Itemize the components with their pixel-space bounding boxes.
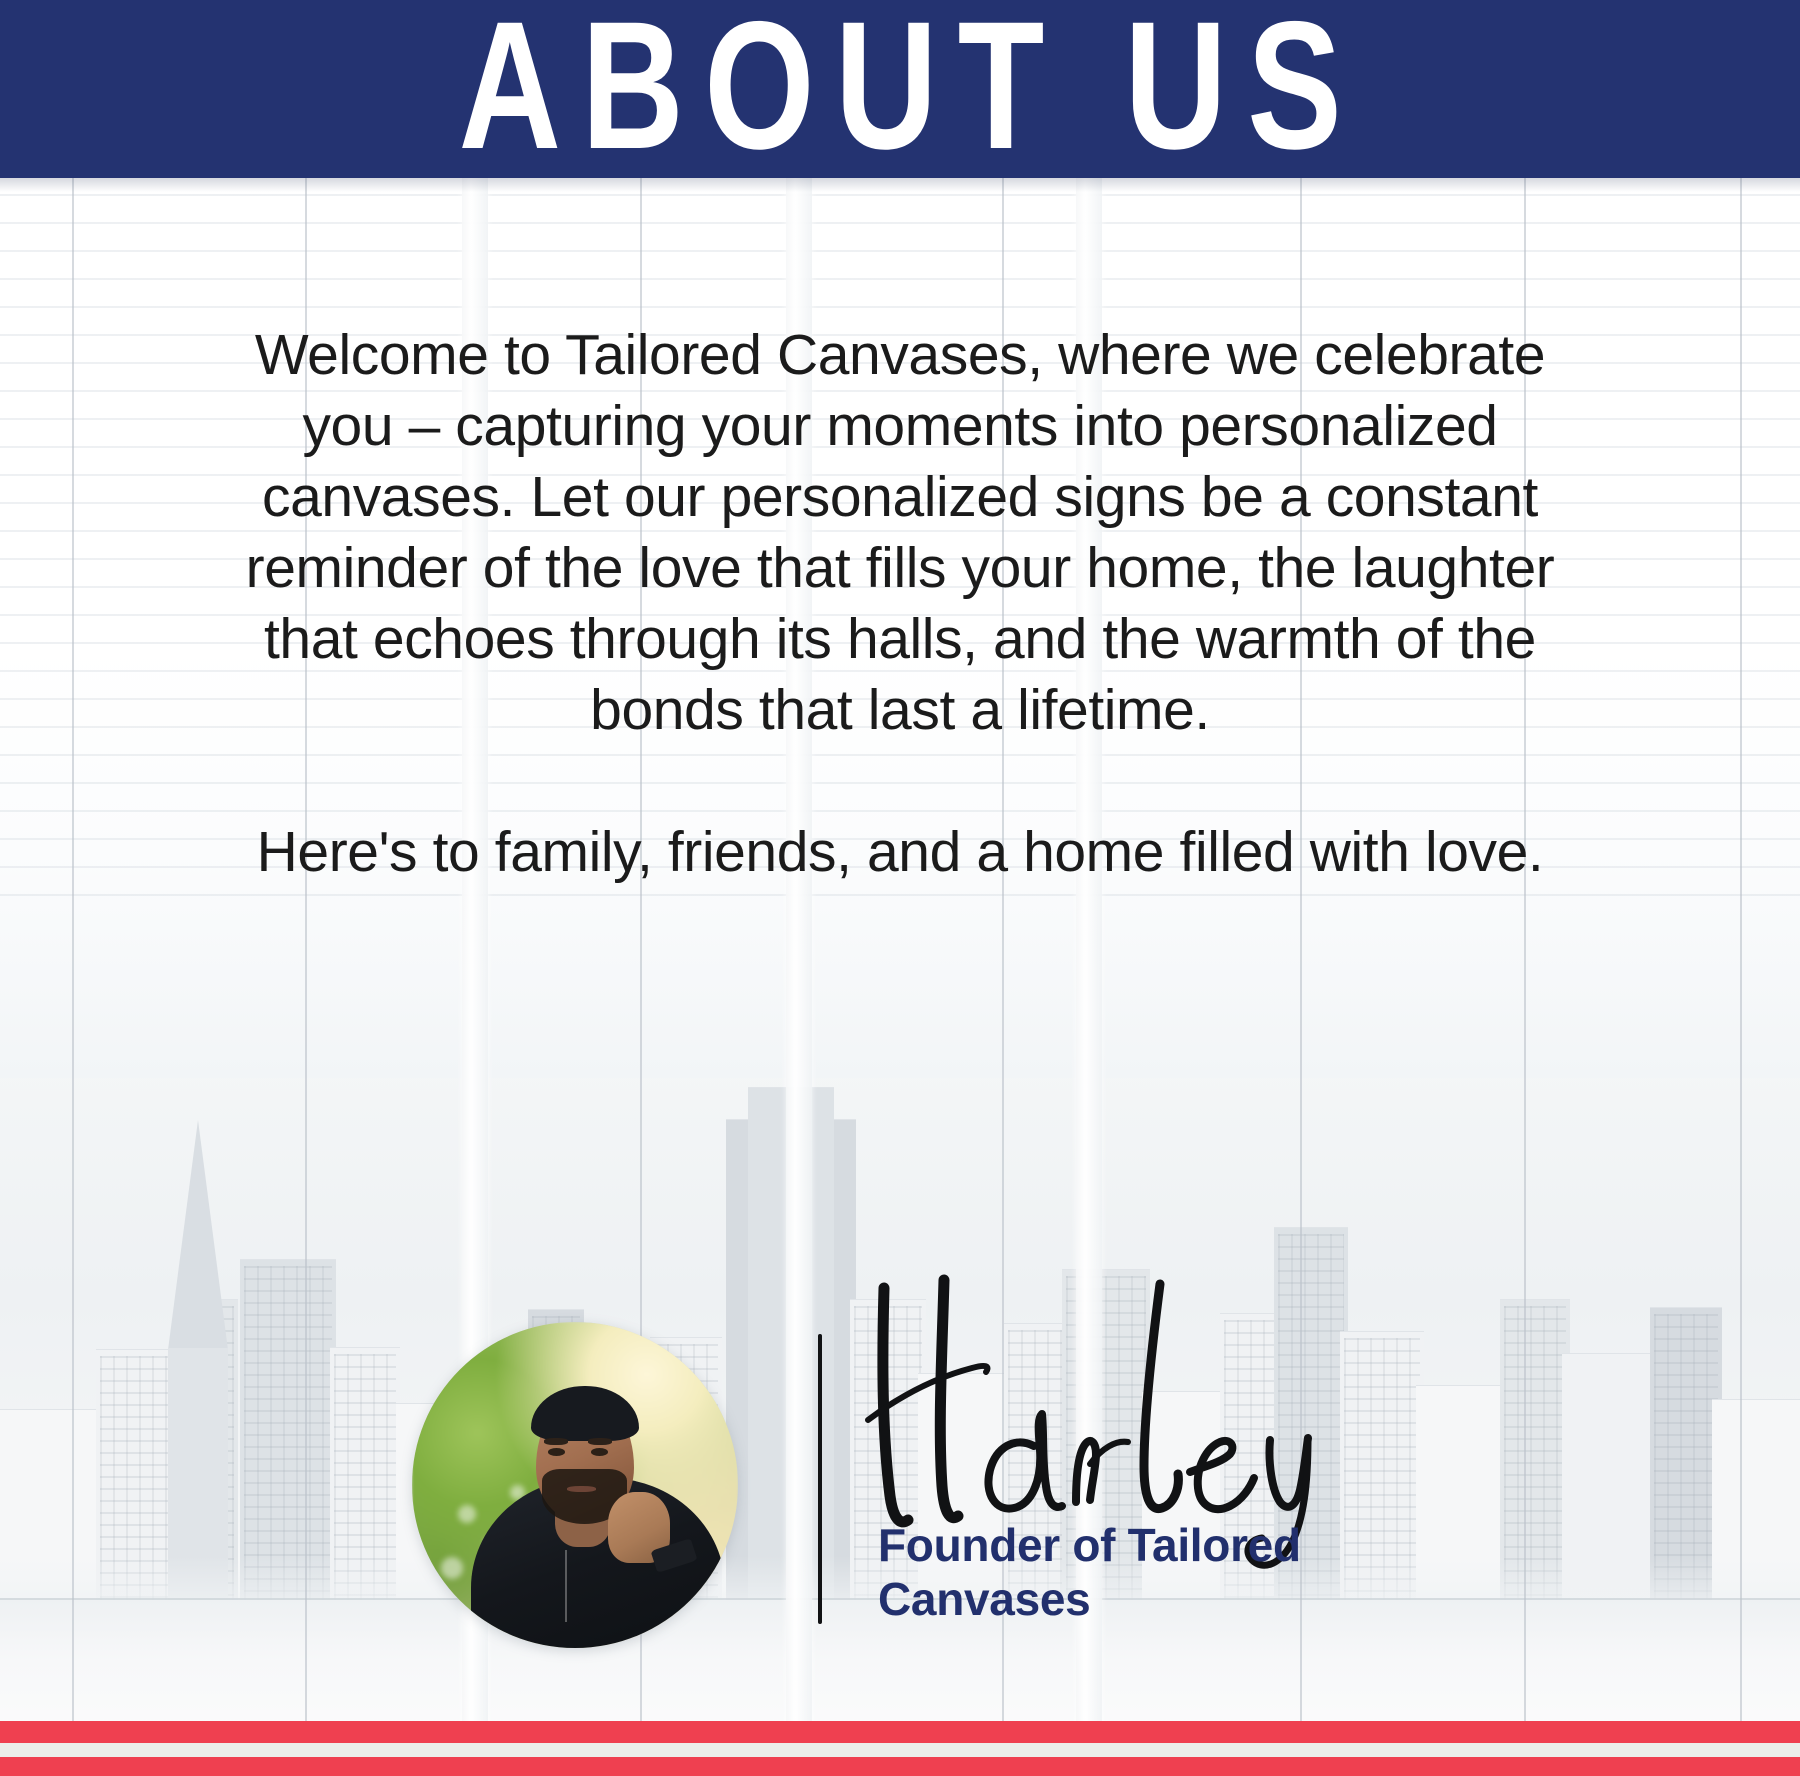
founder-avatar	[412, 1322, 738, 1648]
about-copy: Welcome to Tailored Canvases, where we c…	[210, 320, 1590, 888]
page-title: ABOUT US	[438, 0, 1362, 176]
footer-stripe-bottom	[0, 1757, 1800, 1776]
window-mullion	[1740, 178, 1742, 1776]
portrait-eyebrow-right	[588, 1438, 612, 1445]
about-us-page: ABOUT US Welcome to Tailored Canvases, w…	[0, 0, 1800, 1776]
portrait-eyebrow-left	[544, 1438, 568, 1445]
portrait-mouth	[567, 1486, 596, 1491]
window-mullion	[72, 178, 74, 1776]
signature-divider	[818, 1334, 822, 1624]
bokeh-dot	[458, 1505, 476, 1523]
paragraph-spacer	[210, 746, 1590, 817]
bokeh-dot	[441, 1557, 463, 1579]
page-header: ABOUT US	[0, 0, 1800, 178]
founder-role: Founder of Tailored Canvases	[878, 1518, 1478, 1626]
signature-icon	[838, 1250, 1398, 1550]
portrait-necklace	[565, 1550, 567, 1622]
footer-stripe-top	[0, 1721, 1800, 1743]
founder-role-line-2: Canvases	[878, 1572, 1478, 1626]
about-paragraph-2: Here's to family, friends, and a home fi…	[210, 817, 1590, 888]
portrait-eye-right	[591, 1448, 608, 1456]
founder-role-line-1: Founder of Tailored	[878, 1518, 1478, 1572]
footer-stripe-gap	[0, 1743, 1800, 1757]
about-paragraph-1: Welcome to Tailored Canvases, where we c…	[210, 320, 1590, 746]
founder-signature	[838, 1250, 1398, 1550]
portrait-eye-left	[548, 1448, 565, 1456]
